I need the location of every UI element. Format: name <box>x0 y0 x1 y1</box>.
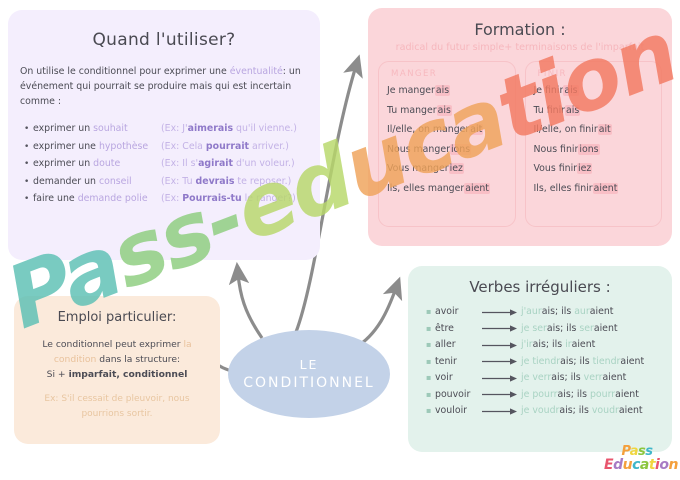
example-after: qu'il vienne.) <box>233 123 297 134</box>
quand-intro-before: On utilise le conditionnel pour exprimer… <box>20 66 230 77</box>
arrow-right-icon <box>481 374 521 383</box>
list-item: ▪ avoir j'aurais; ils auraient <box>408 304 672 321</box>
stem-1: je ser <box>521 323 547 334</box>
example-after: te reposer.) <box>234 176 291 187</box>
conj-stem: Je manger <box>387 85 435 96</box>
ending-2: aient <box>619 405 643 416</box>
infinitive: avoir <box>435 304 481 321</box>
bullet-icon: • <box>24 175 33 191</box>
center-line-2: CONDITIONNEL <box>243 374 374 393</box>
example-verb: devrais <box>196 176 235 187</box>
bullet-example: (Ex: Cela pourrait arriver.) <box>161 139 289 155</box>
ending-2: aient <box>590 306 614 317</box>
list-item: ▪ voir je verrais; ils verraient <box>408 370 672 387</box>
stem-1: je voudr <box>521 405 559 416</box>
formation-title: Formation : <box>368 20 672 39</box>
arrow-right-icon <box>481 308 521 317</box>
conjugated-forms: j'aurais; ils auraient <box>521 304 613 321</box>
example-verb: aimerais <box>188 123 233 134</box>
arrow-to-quand <box>238 274 262 338</box>
bullet-example: (Ex: Tu devrais te reposer.) <box>161 174 291 190</box>
conjugation-table-finir: FINIR Je finirais Tu finirais Il/elle, o… <box>525 61 663 227</box>
bullet-icon: ▪ <box>426 403 435 420</box>
conj-ending: ais <box>437 105 452 116</box>
conjugated-forms: je pourrais; ils pourraient <box>521 387 639 404</box>
emploi-example: Ex: S'il cessait de pleuvoir, nous pourr… <box>26 392 208 422</box>
bullet-icon: ▪ <box>426 354 435 371</box>
bullet-prefix: exprimer un <box>33 158 93 169</box>
conjugation-row: Il/elle, on finirait <box>534 123 654 137</box>
conj-ending: ait <box>598 124 612 135</box>
bullet-prefix: faire une <box>33 193 78 204</box>
example-before: (Ex: Tu <box>161 176 196 187</box>
ending-2: aient <box>572 339 596 350</box>
list-item: ▪ tenir je tiendrais; ils tiendraient <box>408 354 672 371</box>
logo-education: Education <box>604 458 670 472</box>
bullet-icon: ▪ <box>426 337 435 354</box>
ending-2: aient <box>615 389 639 400</box>
emploi-title: Emploi particulier: <box>14 310 220 325</box>
bullet-icon: • <box>24 140 33 156</box>
quand-intro-keyword: éventualité <box>230 66 283 77</box>
quand-bullet-list: • exprimer un souhait (Ex: J'aimerais qu… <box>24 121 320 208</box>
conj-ending: ions <box>578 144 599 155</box>
example-verb: agirait <box>198 158 233 169</box>
bullet-icon: ▪ <box>426 321 435 338</box>
list-item: ▪ pouvoir je pourrais; ils pourraient <box>408 387 672 404</box>
emploi-body-before: Le conditionnel peut exprimer <box>42 339 183 350</box>
bullet-icon: • <box>24 157 33 173</box>
emploi-body-after: dans la structure: <box>96 354 180 365</box>
conj-ending: ais <box>565 105 580 116</box>
verb-heading: FINIR <box>538 69 654 79</box>
formation-subtitle: radical du futur simple+ terminaisons de… <box>374 42 666 53</box>
ending-2: aient <box>603 372 627 383</box>
stem-1: je pourr <box>521 389 558 400</box>
bullet-keyword: conseil <box>99 176 132 187</box>
card-quand-lutiliser: Quand l'utiliser? On utilise le conditio… <box>8 10 320 260</box>
conj-stem: Ils, elles finir <box>534 183 593 194</box>
conj-stem: Vous manger <box>387 163 449 174</box>
list-item: • exprimer un souhait (Ex: J'aimerais qu… <box>24 121 320 138</box>
list-item: • faire une demande polie (Ex: Pourrais-… <box>24 191 320 208</box>
conjugation-row: Vous mangeriez <box>387 162 507 176</box>
arrow-right-icon <box>481 357 521 366</box>
arrow-to-verbes <box>355 288 396 348</box>
conj-stem: Tu manger <box>387 105 437 116</box>
card-verbes-irreguliers: Verbes irréguliers : ▪ avoir j'aurais; i… <box>408 266 672 452</box>
center-line-1: LE <box>300 355 319 374</box>
conj-stem: Il/elle, on finir <box>534 124 598 135</box>
conj-ending: iez <box>449 163 464 174</box>
example-after: arriver.) <box>249 141 289 152</box>
emploi-structure-si: Si + <box>47 369 69 380</box>
ending-2: aient <box>620 356 644 367</box>
example-after: d'un voleur.) <box>233 158 295 169</box>
verbes-title: Verbes irréguliers : <box>408 278 672 296</box>
conjugation-row: Je finirais <box>534 84 654 98</box>
bullet-keyword: doute <box>93 158 120 169</box>
list-item: ▪ vouloir je voudrais; ils voudraient <box>408 403 672 420</box>
example-verb: pourrait <box>206 141 249 152</box>
bullet-prefix: demander un <box>33 176 99 187</box>
conjugation-row: Vous finiriez <box>534 162 654 176</box>
stem-2: voudr <box>592 405 619 416</box>
conj-ending: ions <box>450 144 471 155</box>
stem-2: tiendr <box>593 356 621 367</box>
infinitive: aller <box>435 337 481 354</box>
infinitive: pouvoir <box>435 387 481 404</box>
example-verb: Pourrais-tu <box>182 193 241 204</box>
example-before: (Ex: Il s' <box>161 158 198 169</box>
arrow-right-icon <box>481 407 521 416</box>
list-item: ▪ aller j'irais; ils iraient <box>408 337 672 354</box>
stem-1: j'ir <box>521 339 533 350</box>
ending-1: ais; ils <box>558 389 590 400</box>
list-item: ▪ être je serais; ils seraient <box>408 321 672 338</box>
conj-stem: Nous manger <box>387 144 450 155</box>
conjugation-row: Ils, elles finiraient <box>534 182 654 196</box>
conjugation-row: Ils, elles mangeraient <box>387 182 507 196</box>
conjugation-row: Il/elle, on mangerait <box>387 123 507 137</box>
bullet-label: faire une demande polie <box>33 191 161 207</box>
emploi-structure-rest: imparfait, conditionnel <box>69 369 188 380</box>
stem-2: aur <box>574 306 590 317</box>
pass-education-logo: Pass Education <box>604 446 670 476</box>
conj-ending: iez <box>577 163 592 174</box>
quand-intro: On utilise le conditionnel pour exprimer… <box>20 64 308 109</box>
ending-1: ais; ils <box>547 323 579 334</box>
conjugation-row: Nous mangerions <box>387 143 507 157</box>
bullet-label: exprimer un souhait <box>33 121 161 137</box>
conj-stem: Je finir <box>534 85 564 96</box>
bullet-keyword: hypothèse <box>99 141 148 152</box>
stem-1: j'aur <box>521 306 542 317</box>
conj-stem: Vous finir <box>534 163 578 174</box>
conjugated-forms: je serais; ils seraient <box>521 321 618 338</box>
bullet-prefix: exprimer une <box>33 141 99 152</box>
stem-2: ser <box>579 323 594 334</box>
bullet-example: (Ex: Il s'agirait d'un voleur.) <box>161 156 295 172</box>
ending-1: ais; ils <box>560 356 592 367</box>
conj-ending: aient <box>464 183 490 194</box>
conjugation-row: Tu finirais <box>534 104 654 118</box>
card-formation: Formation : radical du futur simple+ ter… <box>368 8 672 246</box>
bullet-label: exprimer un doute <box>33 156 161 172</box>
emploi-body: Le conditionnel peut exprimer la conditi… <box>24 337 210 382</box>
conj-stem: Nous finir <box>534 144 579 155</box>
example-before: (Ex: Cela <box>161 141 206 152</box>
ending-1: ais; ils <box>533 339 565 350</box>
example-before: (Ex: J' <box>161 123 188 134</box>
conj-ending: ais <box>563 85 578 96</box>
conjugation-row: Tu mangerais <box>387 104 507 118</box>
conjugation-table-manger: MANGER Je mangerais Tu mangerais Il/elle… <box>378 61 516 227</box>
infinitive: être <box>435 321 481 338</box>
bullet-icon: • <box>24 192 33 208</box>
conj-ending: ais <box>435 85 450 96</box>
bullet-label: exprimer une hypothèse <box>33 139 161 155</box>
example-before: (Ex: <box>161 193 182 204</box>
list-item: • exprimer une hypothèse (Ex: Cela pourr… <box>24 139 320 156</box>
conjugated-forms: je voudrais; ils voudraient <box>521 403 643 420</box>
central-topic-node: LE CONDITIONNEL <box>228 330 390 418</box>
card-emploi-particulier: Emploi particulier: Le conditionnel peut… <box>14 296 220 444</box>
stem-1: je tiendr <box>521 356 560 367</box>
bullet-example: (Ex: J'aimerais qu'il vienne.) <box>161 121 297 137</box>
ending-1: ais; ils <box>559 405 591 416</box>
bullet-keyword: demande polie <box>78 193 148 204</box>
stem-2: pourr <box>590 389 615 400</box>
infinitive: tenir <box>435 354 481 371</box>
infinitive: voir <box>435 370 481 387</box>
conjugation-tables: MANGER Je mangerais Tu mangerais Il/elle… <box>368 61 672 227</box>
bullet-prefix: exprimer un <box>33 123 93 134</box>
stem-2: verr <box>584 372 603 383</box>
bullet-icon: ▪ <box>426 304 435 321</box>
conjugated-forms: j'irais; ils iraient <box>521 337 595 354</box>
verb-heading: MANGER <box>391 69 507 79</box>
conjugation-row: Je mangerais <box>387 84 507 98</box>
ending-1: ais; ils <box>542 306 574 317</box>
conj-stem: Tu finir <box>534 105 566 116</box>
conjugated-forms: je tiendrais; ils tiendraient <box>521 354 644 371</box>
ending-2: aient <box>594 323 618 334</box>
list-item: • exprimer un doute (Ex: Il s'agirait d'… <box>24 156 320 173</box>
bullet-icon: ▪ <box>426 370 435 387</box>
list-item: • demander un conseil (Ex: Tu devrais te… <box>24 174 320 191</box>
arrow-right-icon <box>481 324 521 333</box>
arrow-right-icon <box>481 341 521 350</box>
conj-stem: Il/elle, on manger <box>387 124 469 135</box>
infinitive: vouloir <box>435 403 481 420</box>
bullet-icon: • <box>24 122 33 138</box>
bullet-icon: ▪ <box>426 387 435 404</box>
conjugated-forms: je verrais; ils verraient <box>521 370 626 387</box>
bullet-keyword: souhait <box>93 123 128 134</box>
ending-1: ais; ils <box>551 372 583 383</box>
conj-ending: aient <box>593 183 619 194</box>
conj-stem: Ils, elles manger <box>387 183 464 194</box>
quand-title: Quand l'utiliser? <box>8 30 320 50</box>
stem-1: je verr <box>521 372 551 383</box>
conj-ending: ait <box>469 124 483 135</box>
arrow-right-icon <box>481 390 521 399</box>
bullet-example: (Ex: Pourrais-tu le ranger?) <box>161 191 296 207</box>
example-after: le ranger?) <box>242 193 296 204</box>
conjugation-row: Nous finirions <box>534 143 654 157</box>
infographic-canvas: Quand l'utiliser? On utilise le conditio… <box>0 0 680 480</box>
bullet-label: demander un conseil <box>33 174 161 190</box>
